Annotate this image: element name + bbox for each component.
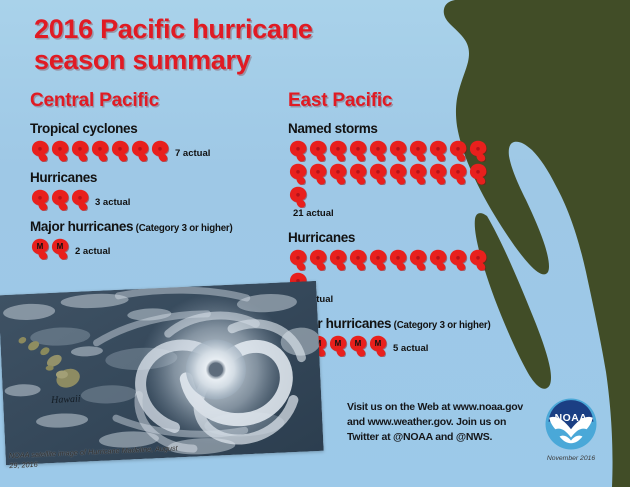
hurricane-major-icon: M xyxy=(328,334,348,357)
icon-group xyxy=(30,188,90,211)
stat-count-label: 2 actual xyxy=(75,246,110,260)
column-east-pacific: East Pacific Named storms21 actualHurric… xyxy=(288,90,568,366)
hurricane-icon xyxy=(368,139,388,162)
hurricane-icon xyxy=(30,188,50,211)
svg-text:M: M xyxy=(375,338,382,347)
stat-label: Major hurricanes (Category 3 or higher) xyxy=(288,317,568,332)
svg-text:M: M xyxy=(355,338,362,347)
hurricane-icon xyxy=(150,139,170,162)
hurricane-icon xyxy=(288,139,308,162)
stat-icon-row: MMMMM5 actual xyxy=(288,334,503,357)
hurricane-icon xyxy=(328,139,348,162)
stats-list-central: Tropical cyclones7 actualHurricanes3 act… xyxy=(30,122,280,260)
stat-count-label: 7 actual xyxy=(175,148,210,162)
hurricane-icon xyxy=(368,248,388,271)
stat-count-label: 3 actual xyxy=(95,197,130,211)
hurricane-icon xyxy=(368,162,388,185)
hurricane-icon xyxy=(110,139,130,162)
hurricane-icon xyxy=(308,248,328,271)
svg-text:M: M xyxy=(335,338,342,347)
infographic-poster: 2016 Pacific hurricane season summary Ce… xyxy=(0,0,630,487)
noaa-logo: NOAA xyxy=(545,398,597,450)
hurricane-icon xyxy=(328,248,348,271)
hurricane-icon xyxy=(388,139,408,162)
stat-label: Hurricanes xyxy=(30,171,280,186)
stat-label: Tropical cyclones xyxy=(30,122,280,137)
icon-group xyxy=(30,139,170,162)
stat-icon-row: 11 actual xyxy=(288,248,503,308)
stat-label: Major hurricanes (Category 3 or higher) xyxy=(30,220,280,235)
stat-icon-row: 21 actual xyxy=(288,139,503,222)
title-line-2: season summary xyxy=(34,45,414,76)
hurricane-icon xyxy=(90,139,110,162)
title-line-1: 2016 Pacific hurricane xyxy=(34,14,313,44)
stat-hurricanes: Hurricanes3 actual xyxy=(30,171,280,211)
hurricane-icon xyxy=(348,162,368,185)
stat-label: Named storms xyxy=(288,122,568,137)
stat-icon-row: 3 actual xyxy=(30,188,245,211)
icon-group xyxy=(288,248,503,294)
footer-contact-text: Visit us on the Web at www.noaa.gov and … xyxy=(347,400,532,446)
hawaii-label: Hawaii xyxy=(50,394,81,406)
hurricane-icon xyxy=(308,162,328,185)
page-title: 2016 Pacific hurricane season summary xyxy=(34,14,414,75)
publication-date: November 2016 xyxy=(540,455,602,462)
hurricane-icon xyxy=(308,139,328,162)
hurricane-major-icon: M xyxy=(348,334,368,357)
stat-hurricanes: Hurricanes11 actual xyxy=(288,231,568,308)
svg-text:M: M xyxy=(57,241,64,250)
hurricane-icon xyxy=(130,139,150,162)
hurricane-icon xyxy=(388,162,408,185)
hurricane-icon xyxy=(50,139,70,162)
hurricane-icon xyxy=(328,162,348,185)
icon-group: MM xyxy=(30,237,70,260)
stat-tropical-cyclones: Tropical cyclones7 actual xyxy=(30,122,280,162)
stat-icon-row: MM2 actual xyxy=(30,237,245,260)
stat-label: Hurricanes xyxy=(288,231,568,246)
stats-list-east: Named storms21 actualHurricanes11 actual… xyxy=(288,122,568,357)
hurricane-icon xyxy=(408,162,428,185)
hurricane-icon xyxy=(348,139,368,162)
hurricane-icon xyxy=(468,139,488,162)
heading-central-pacific: Central Pacific xyxy=(30,90,280,112)
hurricane-icon xyxy=(348,248,368,271)
hurricane-icon xyxy=(70,139,90,162)
hurricane-icon xyxy=(448,139,468,162)
hurricane-icon xyxy=(448,248,468,271)
hurricane-icon xyxy=(428,248,448,271)
hurricane-icon xyxy=(428,162,448,185)
hurricane-icon xyxy=(288,248,308,271)
hurricane-icon xyxy=(30,139,50,162)
hurricane-icon xyxy=(70,188,90,211)
hurricane-icon xyxy=(50,188,70,211)
stat-note: (Category 3 or higher) xyxy=(133,223,232,234)
hurricane-icon xyxy=(468,248,488,271)
stat-note: (Category 3 or higher) xyxy=(391,320,490,331)
noaa-logo-text: NOAA xyxy=(555,413,588,424)
hurricane-icon xyxy=(408,139,428,162)
hurricane-icon xyxy=(388,248,408,271)
icon-group xyxy=(288,139,503,208)
hurricane-icon xyxy=(428,139,448,162)
svg-text:M: M xyxy=(37,241,44,250)
stat-count-label: 5 actual xyxy=(393,343,428,357)
stat-major-hurricanes: Major hurricanes (Category 3 or higher)M… xyxy=(30,220,280,260)
stat-major-hurricanes: Major hurricanes (Category 3 or higher)M… xyxy=(288,317,568,357)
satellite-image: Hawaii xyxy=(0,281,324,465)
column-central-pacific: Central Pacific Tropical cyclones7 actua… xyxy=(30,90,280,269)
hurricane-icon xyxy=(468,162,488,185)
heading-east-pacific: East Pacific xyxy=(288,90,568,112)
stat-count-label: 21 actual xyxy=(293,208,334,222)
hurricane-icon xyxy=(288,162,308,185)
hurricane-icon xyxy=(288,185,308,208)
hurricane-major-icon: M xyxy=(30,237,50,260)
hurricane-major-icon: M xyxy=(50,237,70,260)
hurricane-icon xyxy=(408,248,428,271)
hurricane-icon xyxy=(448,162,468,185)
stat-icon-row: 7 actual xyxy=(30,139,245,162)
hurricane-major-icon: M xyxy=(368,334,388,357)
stat-named-storms: Named storms21 actual xyxy=(288,122,568,222)
